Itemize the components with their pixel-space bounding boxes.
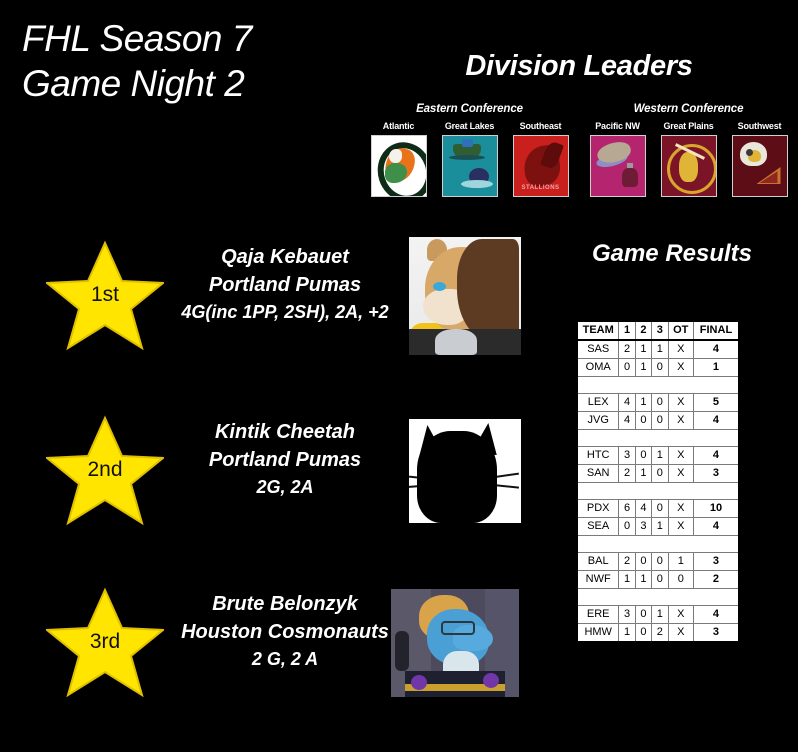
rank-label-second: 2nd xyxy=(46,458,164,482)
ot-cell: X xyxy=(668,394,693,412)
star-third-text: Brute Belonzyk Houston Cosmonauts 2 G, 2… xyxy=(170,590,400,672)
period3-cell: 0 xyxy=(652,465,668,483)
ot-cell: X xyxy=(668,359,693,377)
period1-cell: 2 xyxy=(619,340,635,359)
conference-western: Western Conference Pacific NW Great Plai… xyxy=(579,103,798,197)
period1-cell: 4 xyxy=(619,394,635,412)
great-plains-logo xyxy=(661,135,717,197)
period2-cell: 3 xyxy=(635,518,651,536)
table-spacer-row xyxy=(577,377,739,394)
team-cell: SAN xyxy=(577,465,619,483)
team-cell: HMW xyxy=(577,624,619,643)
ot-cell: X xyxy=(668,624,693,643)
col-header-p1: 1 xyxy=(619,321,635,340)
team-cell: NWF xyxy=(577,571,619,589)
period3-cell: 1 xyxy=(652,340,668,359)
ot-cell: X xyxy=(668,340,693,359)
rank-label-first: 1st xyxy=(46,283,164,307)
period3-cell: 1 xyxy=(652,606,668,624)
player-team-second: Portland Pumas xyxy=(170,446,400,474)
team-cell: JVG xyxy=(577,412,619,430)
ot-cell: X xyxy=(668,447,693,465)
period1-cell: 3 xyxy=(619,606,635,624)
rank-star-third: 3rd xyxy=(46,586,164,698)
ot-cell: X xyxy=(668,518,693,536)
conference-eastern: Eastern Conference Atlantic Great Lakes xyxy=(360,103,579,197)
game-results-heading: Game Results xyxy=(572,240,772,268)
team-cell: ERE xyxy=(577,606,619,624)
table-spacer-row xyxy=(577,589,739,606)
final-cell: 3 xyxy=(693,553,739,571)
table-row: HTC301X4 xyxy=(577,447,739,465)
final-cell: 10 xyxy=(693,500,739,518)
col-header-p3: 3 xyxy=(652,321,668,340)
period1-cell: 2 xyxy=(619,465,635,483)
star-first-text: Qaja Kebauet Portland Pumas 4G(inc 1PP, … xyxy=(170,243,400,325)
ot-cell: X xyxy=(668,465,693,483)
final-cell: 2 xyxy=(693,571,739,589)
period3-cell: 0 xyxy=(652,571,668,589)
conference-eastern-label: Eastern Conference xyxy=(360,103,579,115)
atlantic-logo xyxy=(371,135,427,197)
division-great-plains[interactable]: Great Plains xyxy=(661,121,717,197)
spacer-cell xyxy=(577,589,739,606)
period3-cell: 0 xyxy=(652,359,668,377)
table-row: ERE301X4 xyxy=(577,606,739,624)
division-great-lakes[interactable]: Great Lakes xyxy=(442,121,498,197)
table-spacer-row xyxy=(577,483,739,500)
ot-cell: 1 xyxy=(668,553,693,571)
period2-cell: 1 xyxy=(635,571,651,589)
period3-cell: 0 xyxy=(652,553,668,571)
period3-cell: 0 xyxy=(652,394,668,412)
period1-cell: 0 xyxy=(619,359,635,377)
table-spacer-row xyxy=(577,536,739,553)
final-cell: 4 xyxy=(693,606,739,624)
period1-cell: 6 xyxy=(619,500,635,518)
team-cell: PDX xyxy=(577,500,619,518)
game-results-table: TEAM 1 2 3 OT FINAL SAS211X4OMA010X1LEX4… xyxy=(576,320,740,643)
spacer-cell xyxy=(577,536,739,553)
table-row: BAL20013 xyxy=(577,553,739,571)
period3-cell: 1 xyxy=(652,518,668,536)
period1-cell: 1 xyxy=(619,571,635,589)
team-cell: BAL xyxy=(577,553,619,571)
division-atlantic-label: Atlantic xyxy=(371,121,427,131)
table-row: SEA031X4 xyxy=(577,518,739,536)
period2-cell: 1 xyxy=(635,340,651,359)
game-results-body: SAS211X4OMA010X1LEX410X5JVG400X4HTC301X4… xyxy=(577,340,739,642)
period2-cell: 0 xyxy=(635,606,651,624)
period2-cell: 0 xyxy=(635,624,651,643)
player-stats-second: 2G, 2A xyxy=(170,475,400,501)
team-cell: LEX xyxy=(577,394,619,412)
player-stats-first: 4G(inc 1PP, 2SH), 2A, +2 xyxy=(170,300,400,326)
kintik-cheetah-photo xyxy=(409,419,521,523)
period1-cell: 1 xyxy=(619,624,635,643)
ot-cell: X xyxy=(668,412,693,430)
eastern-division-tiles: Atlantic Great Lakes Southeast STALL xyxy=(360,121,579,197)
table-header-row: TEAM 1 2 3 OT FINAL xyxy=(577,321,739,340)
southeast-logo: STALLIONS xyxy=(513,135,569,197)
final-cell: 3 xyxy=(693,624,739,643)
ot-cell: 0 xyxy=(668,571,693,589)
period3-cell: 0 xyxy=(652,500,668,518)
great-lakes-logo xyxy=(442,135,498,197)
final-cell: 4 xyxy=(693,340,739,359)
period3-cell: 1 xyxy=(652,447,668,465)
conference-western-label: Western Conference xyxy=(579,103,798,115)
qaja-kebauet-photo xyxy=(409,237,521,355)
brute-belonzyk-photo xyxy=(391,589,519,697)
player-team-third: Houston Cosmonauts xyxy=(170,618,400,646)
col-header-p2: 2 xyxy=(635,321,651,340)
conference-row: Eastern Conference Atlantic Great Lakes xyxy=(360,103,798,197)
division-southwest[interactable]: Southwest xyxy=(732,121,788,197)
team-cell: SAS xyxy=(577,340,619,359)
player-stats-third: 2 G, 2 A xyxy=(170,647,400,673)
period1-cell: 4 xyxy=(619,412,635,430)
team-cell: OMA xyxy=(577,359,619,377)
table-row: PDX640X10 xyxy=(577,500,739,518)
period2-cell: 4 xyxy=(635,500,651,518)
ot-cell: X xyxy=(668,606,693,624)
division-leaders-section: Division Leaders Eastern Conference Atla… xyxy=(360,50,798,210)
southwest-logo xyxy=(732,135,788,197)
period2-cell: 0 xyxy=(635,447,651,465)
final-cell: 4 xyxy=(693,447,739,465)
final-cell: 5 xyxy=(693,394,739,412)
rank-star-first: 1st xyxy=(46,239,164,351)
period1-cell: 3 xyxy=(619,447,635,465)
table-row: SAS211X4 xyxy=(577,340,739,359)
division-great-plains-label: Great Plains xyxy=(661,121,717,131)
player-name-second: Kintik Cheetah xyxy=(170,418,400,446)
rank-label-third: 3rd xyxy=(46,630,164,654)
spacer-cell xyxy=(577,483,739,500)
col-header-final: FINAL xyxy=(693,321,739,340)
final-cell: 1 xyxy=(693,359,739,377)
team-cell: SEA xyxy=(577,518,619,536)
division-leaders-heading: Division Leaders xyxy=(360,50,798,83)
period2-cell: 0 xyxy=(635,412,651,430)
star-second-text: Kintik Cheetah Portland Pumas 2G, 2A xyxy=(170,418,400,500)
period3-cell: 0 xyxy=(652,412,668,430)
division-atlantic[interactable]: Atlantic xyxy=(371,121,427,197)
division-southeast[interactable]: Southeast STALLIONS xyxy=(513,121,569,197)
page-title: FHL Season 7 Game Night 2 xyxy=(22,16,252,106)
final-cell: 4 xyxy=(693,412,739,430)
period2-cell: 1 xyxy=(635,465,651,483)
table-spacer-row xyxy=(577,430,739,447)
table-row: OMA010X1 xyxy=(577,359,739,377)
player-name-third: Brute Belonzyk xyxy=(170,590,400,618)
table-row: NWF11002 xyxy=(577,571,739,589)
period2-cell: 1 xyxy=(635,394,651,412)
period2-cell: 0 xyxy=(635,553,651,571)
ot-cell: X xyxy=(668,500,693,518)
team-cell: HTC xyxy=(577,447,619,465)
final-cell: 3 xyxy=(693,465,739,483)
division-pacific-nw[interactable]: Pacific NW xyxy=(590,121,646,197)
final-cell: 4 xyxy=(693,518,739,536)
period3-cell: 2 xyxy=(652,624,668,643)
table-row: HMW102X3 xyxy=(577,624,739,643)
period1-cell: 0 xyxy=(619,518,635,536)
table-row: JVG400X4 xyxy=(577,412,739,430)
spacer-cell xyxy=(577,430,739,447)
spacer-cell xyxy=(577,377,739,394)
division-pacific-nw-label: Pacific NW xyxy=(590,121,646,131)
table-row: SAN210X3 xyxy=(577,465,739,483)
western-division-tiles: Pacific NW Great Plains Southwest xyxy=(579,121,798,197)
period2-cell: 1 xyxy=(635,359,651,377)
period1-cell: 2 xyxy=(619,553,635,571)
player-team-first: Portland Pumas xyxy=(170,271,400,299)
division-southwest-label: Southwest xyxy=(732,121,788,131)
division-great-lakes-label: Great Lakes xyxy=(442,121,498,131)
rank-star-second: 2nd xyxy=(46,414,164,526)
pacific-nw-logo xyxy=(590,135,646,197)
division-southeast-label: Southeast xyxy=(513,121,569,131)
col-header-team: TEAM xyxy=(577,321,619,340)
table-row: LEX410X5 xyxy=(577,394,739,412)
col-header-ot: OT xyxy=(668,321,693,340)
player-name-first: Qaja Kebauet xyxy=(170,243,400,271)
